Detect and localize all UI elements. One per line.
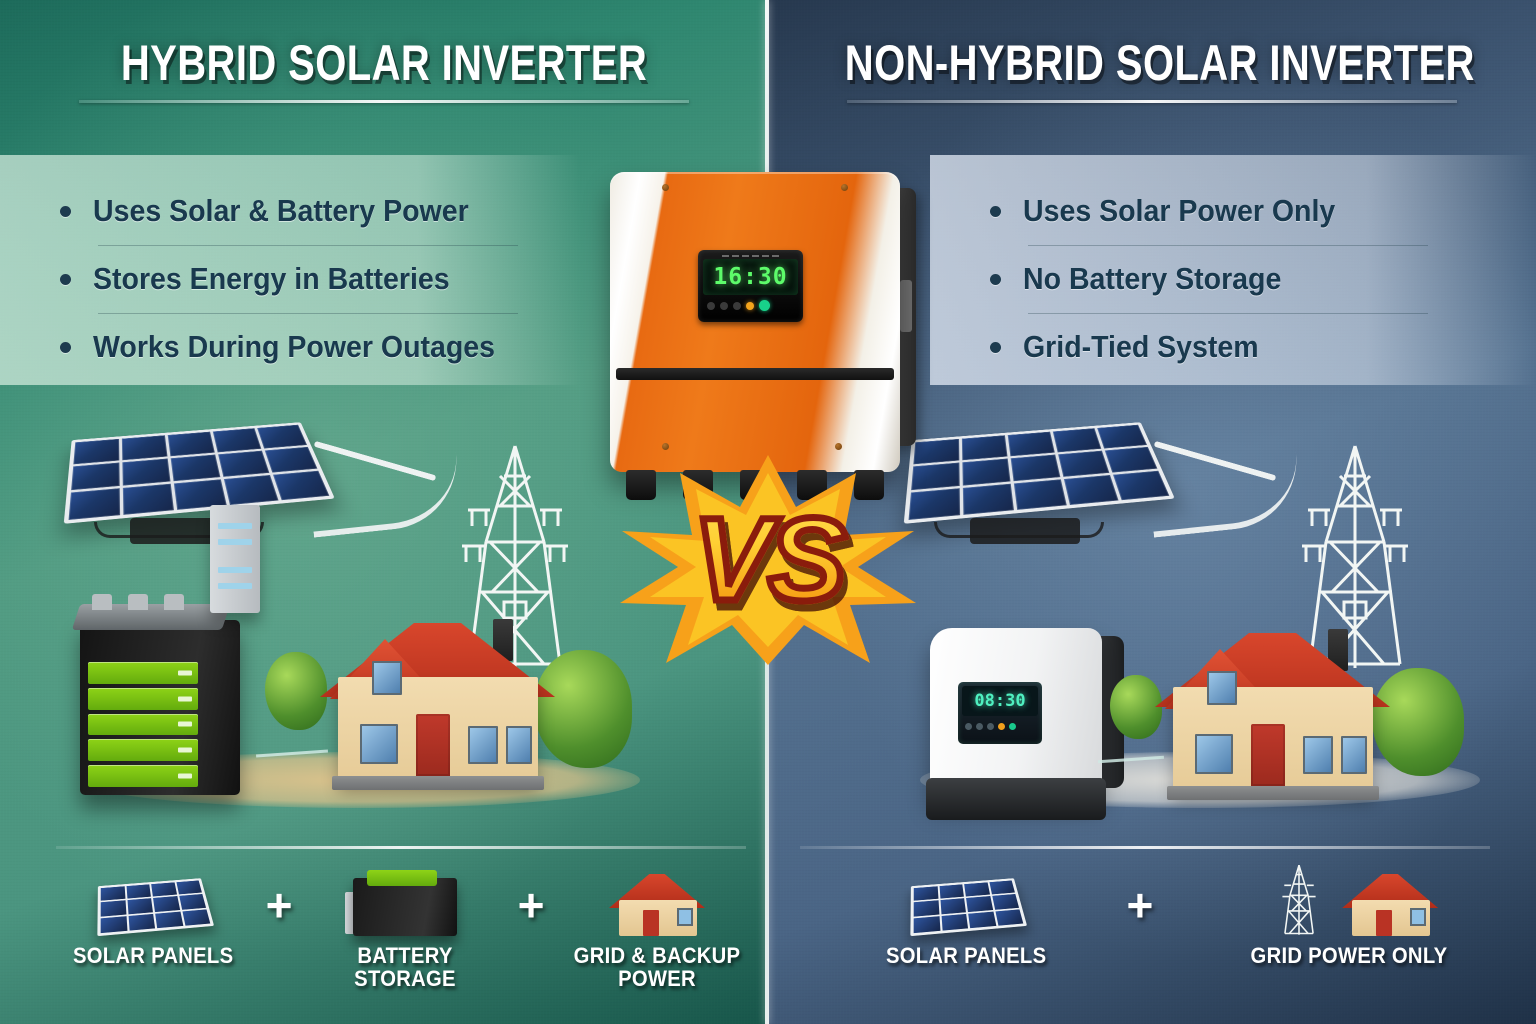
feature-label: Uses Solar & Battery Power	[93, 193, 469, 229]
plus-icon-1: +	[266, 878, 293, 932]
list-item: Grid-Tied System	[990, 313, 1536, 381]
solar-panel-icon-right	[904, 422, 1175, 524]
title-underline-left	[79, 100, 689, 103]
scene-non-hybrid: 08:30	[900, 400, 1520, 830]
solar-panel-icon	[911, 858, 1021, 936]
inverter-trim-strip	[616, 368, 894, 380]
battery-controller-left	[210, 505, 260, 613]
house-icon-right	[1155, 615, 1390, 800]
title-underline-right	[847, 100, 1457, 103]
feature-label: Grid-Tied System	[1023, 329, 1259, 365]
feature-list-hybrid: Uses Solar & Battery Power Stores Energy…	[0, 155, 580, 385]
inverter-unit-right: 08:30	[930, 628, 1102, 798]
footer-label: GRID POWER ONLY	[1251, 944, 1448, 967]
footer-divider-right	[800, 846, 1490, 849]
house-grid-backup-icon	[609, 858, 705, 936]
footer-hybrid: SOLAR PANELS + BATTERY STORAGE + GRID & …	[50, 858, 760, 1018]
bullet-dot-icon	[60, 274, 71, 285]
header-hybrid: HYBRID SOLAR INVERTER	[0, 34, 768, 103]
versus-label: VS	[618, 455, 918, 665]
bullet-dot-icon	[60, 342, 71, 353]
feature-label: Stores Energy in Batteries	[93, 261, 450, 297]
footer-item-solar-panels-left: SOLAR PANELS	[58, 858, 248, 967]
bullet-dot-icon	[990, 206, 1001, 217]
house-icon-left	[320, 605, 555, 790]
inverter-display-value: 16:30	[713, 264, 787, 290]
solar-panel-icon	[98, 858, 208, 936]
feature-list-non-hybrid: Uses Solar Power Only No Battery Storage…	[930, 155, 1536, 385]
page-title-left: HYBRID SOLAR INVERTER	[77, 34, 691, 92]
solar-panel-brace-right	[934, 522, 1104, 538]
inverter-display-value-right: 08:30	[974, 691, 1025, 711]
list-item: Works During Power Outages	[60, 313, 580, 381]
footer-non-hybrid: SOLAR PANELS + GR	[830, 858, 1520, 1018]
inverter-display-panel: 16:30	[698, 250, 803, 322]
list-item: No Battery Storage	[990, 245, 1536, 313]
house-icon	[1342, 870, 1438, 936]
battery-storage-icon-left	[80, 620, 240, 795]
footer-label: SOLAR PANELS	[73, 944, 233, 967]
solar-panel-icon-left	[64, 422, 335, 524]
infographic-canvas: 08:30 HYBRID SOLAR INVERTER NON-HYBRID	[0, 0, 1536, 1024]
transmission-tower-icon	[1260, 864, 1338, 936]
bullet-dot-icon	[990, 274, 1001, 285]
footer-label: GRID & BACKUP POWER	[570, 944, 745, 990]
inverter-display-right: 08:30	[958, 682, 1042, 744]
footer-item-grid-power-only: GRID POWER ONLY	[1219, 858, 1479, 967]
footer-divider-left	[56, 846, 746, 849]
plus-icon-2: +	[518, 878, 545, 932]
hero-inverter-device: 16:30	[610, 172, 900, 472]
page-title-right: NON-HYBRID SOLAR INVERTER	[845, 34, 1459, 92]
feature-label: No Battery Storage	[1023, 261, 1281, 297]
footer-label: SOLAR PANELS	[886, 944, 1046, 967]
feature-label: Works During Power Outages	[93, 329, 495, 365]
feature-label: Uses Solar Power Only	[1023, 193, 1335, 229]
pylon-house-icon	[1260, 858, 1438, 936]
footer-item-solar-panels-right: SOLAR PANELS	[871, 858, 1061, 967]
list-item: Stores Energy in Batteries	[60, 245, 580, 313]
footer-label: BATTERY STORAGE	[318, 944, 493, 990]
plus-icon-3: +	[1127, 878, 1154, 932]
bullet-dot-icon	[990, 342, 1001, 353]
bullet-dot-icon	[60, 206, 71, 217]
list-item: Uses Solar & Battery Power	[60, 177, 580, 245]
header-non-hybrid: NON-HYBRID SOLAR INVERTER	[768, 34, 1536, 103]
inverter-housing	[610, 172, 900, 472]
battery-storage-icon	[353, 858, 457, 936]
list-item: Uses Solar Power Only	[990, 177, 1536, 245]
footer-item-grid-backup: GRID & BACKUP POWER	[562, 858, 752, 990]
footer-item-battery-storage: BATTERY STORAGE	[310, 858, 500, 990]
versus-badge: VS	[618, 455, 918, 665]
tree-icon-left-1	[265, 652, 327, 730]
